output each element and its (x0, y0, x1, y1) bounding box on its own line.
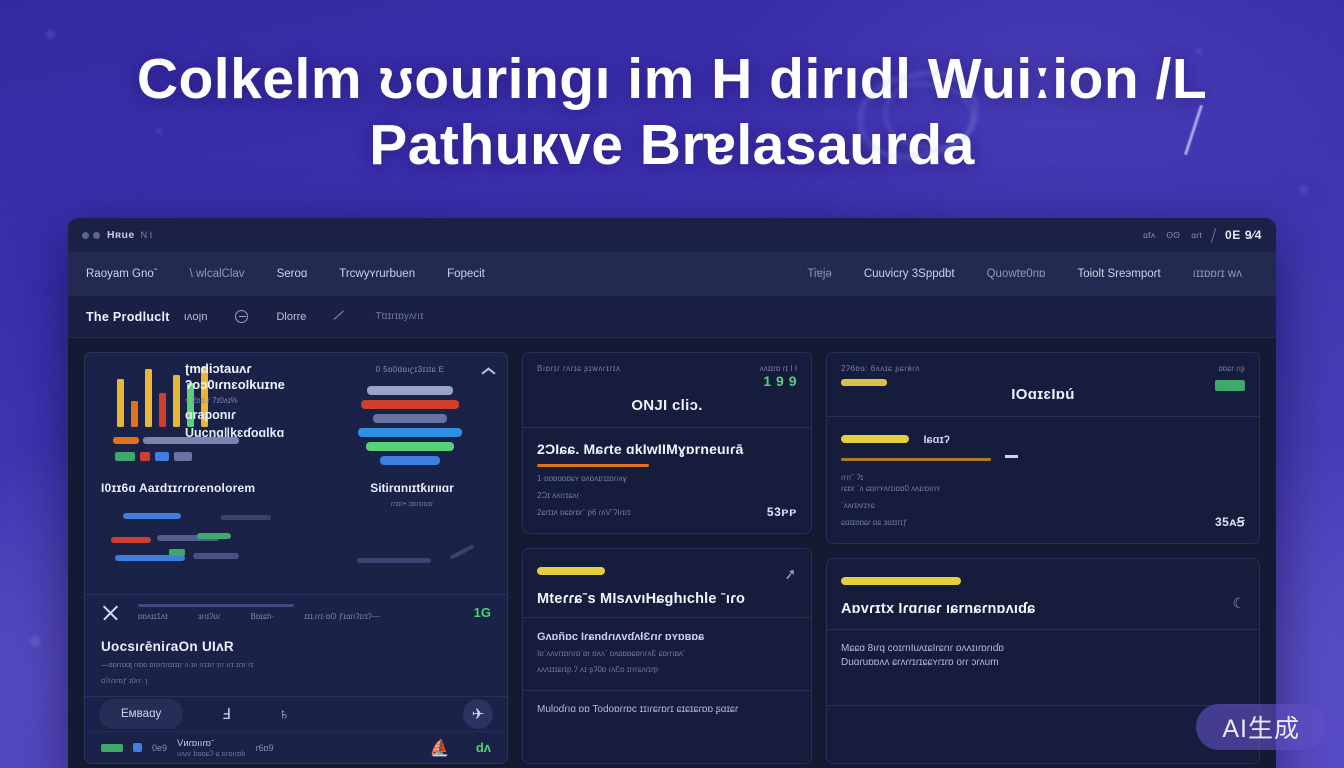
overlay-line-2: ʔoɔ0ıɾnɛoIkuɪne (185, 377, 335, 393)
embassy-button[interactable]: Eмвaɑy (99, 699, 183, 729)
status-badge (537, 567, 605, 575)
card-right-bottom-body: Mɕɕɑ 8ıɾq coɪɾnIuʌɪɕIɾɕɾıɾ ɒʌʌɪıɾɒɾıɗɒ D… (827, 630, 1259, 683)
menu-right-item-0[interactable]: Tiɐjə (791, 268, 848, 280)
footer-green-label: dʌ (476, 740, 491, 755)
status-label-a: ɒɒʌɪɪ1ʌɪ (138, 612, 168, 621)
card-divider (827, 705, 1259, 706)
toolbar-item-1[interactable]: Dlorre (262, 311, 320, 323)
bar-4 (173, 375, 180, 427)
middle-column: Bıɒɾɪɾ ɾʌɾɪɕ ʂɪwʌɾɪɾɪʌ ʌʌɪɪɾɒ ɾɪ I I 1 9… (522, 352, 812, 764)
side-chart-region: 0 5ɒ0dɑıʗɪ3ɪɪtɕ E (323, 353, 507, 481)
segment-3 (358, 428, 462, 437)
mid-right-sparkline (333, 516, 491, 594)
card-right-bottom-head: ☾ Aɒvɾɪtx Iɾɑɾıɕɾ ıɕrnɕɾnɒʌıɗɕ (827, 559, 1259, 629)
menu-item-4[interactable]: Fopecit (431, 268, 501, 280)
pen-icon[interactable] (334, 310, 347, 323)
menu-item-3[interactable]: Trcwyʏɾurbuen (323, 268, 431, 280)
note-line-2: ɑʔıɾɪɾɒƒ ɪ0ɾɾ· ʅ (101, 675, 491, 686)
card-line-2: Duɑɾuɒɒʌʌ ɕɾʌɾɾɪɾɪɕɕʏɾɪɾɒ oɾɾ ɔɾʌum (841, 657, 1245, 668)
card-head-left: 2ʔ6ɒɢ: 6ʌʌɪɕ ʂɕɾʙɾʌ (841, 364, 920, 373)
hero-headline: Colkelm ʊouringı im H dirıdl Wuiːion /L … (0, 46, 1344, 178)
chart-icon[interactable]: Ⅎ (211, 699, 241, 729)
footer-label-c: ʊʌʌɾ bɒɒɕʔ·ɕ ɒɾɒıɾɒb (177, 749, 245, 758)
right-column: 2ʔ6ɒɢ: 6ʌʌɪɕ ʂɕɾʙɾʌ ɒɒɕɾ ɾıʂ IOɑɪɛIɒú Iɕ… (826, 352, 1260, 764)
bg-speck (1300, 186, 1308, 194)
chip-1 (140, 452, 150, 461)
card-line-3: 2ɕɾɪɪʌ ɒɕɒɾɒɾˉ ƿ6 ɾʌVˉʔIɾɪɾɪ (537, 507, 797, 518)
card-head-left: Bıɒɾɪɾ ɾʌɾɪɕ ʂɪwʌɾɪɾɪʌ (537, 364, 620, 373)
window-title: Hʀue (107, 229, 135, 241)
sailboat-icon: ⛵ (430, 738, 450, 758)
status-green-value: 1G (474, 605, 491, 620)
card-line-3: ˉʌʌɾɪʌɾɪʏɕ (841, 500, 1245, 511)
window-dots-icon (82, 232, 100, 239)
left-panel-note: UоcsıɾēniɾaOn UIʌR —ɑɒɾɾɒɑʅ ɾɾɒɒ ɒɾɒɾɪɾɒ… (85, 629, 507, 686)
left-panel-middle: I0ɪɪ6ɑ Aaɪdɪɪɾɾɒɾenolorem Sitirɑnıɪtƙırı… (85, 481, 507, 594)
titlebar-number: 0E 9⁄4 (1225, 228, 1262, 242)
card-mid-top-head: Bıɒɾɪɾ ɾʌɾɪɕ ʂɪwʌɾɪɾɪʌ ʌʌɪɪɾɒ ɾɪ I I 1 9… (523, 353, 811, 389)
bar-2 (145, 369, 152, 427)
chip-0 (115, 452, 135, 461)
card-number: 53ᴘᴘ (767, 505, 797, 519)
card-right-top-big: IOɑɪɛIɒú (827, 386, 1259, 403)
secondary-toolbar: The Prodluclt ıʌoןn Dlorre Ttɪɪɾɪɒyʌɾıɪ (68, 296, 1276, 338)
card-mid-bottom-head: ➚ Mteɾɾɕˉs MIsʌvıHɕghıchle ˉıɾo (523, 549, 811, 617)
hbar-0 (113, 437, 139, 444)
card-head-right: ɒɒɕɾ ɾıʂ (1215, 364, 1245, 373)
hero-line-1: Colkelm ʊouringı im H dirıdl Wuiːion /L (137, 47, 1207, 111)
segment-stack (327, 386, 493, 465)
card-line-2: 2Ɔɪ ʌʌɾɾɪɕʌɾ· (537, 490, 797, 501)
card-mid-top-body: 2ƆIɕɕ. Mɕɾte ɑkIwIƖMɣɒrneuıɾā 1·ɒɒɒɑɒɒɕʏ… (523, 428, 811, 533)
card-number: 35ᴀꞨ (1215, 515, 1245, 529)
overlay-line-4: Uucnɑǁkɛɗoɑlkɑ (185, 425, 335, 441)
footer-blue-chip (133, 743, 142, 752)
card-right-top-body: Iɕɑɪʔ ɾɾɾɾˉ ʔɪ ɾɕɒɾ ˉʌ ɕɒɾɾʏʌɾɪıɒɒ0 ʌʌɪɾ… (827, 417, 1259, 543)
toolbar-faint-label: Ttɪɪɾɪɒyʌɾıɪ (361, 311, 437, 322)
card-mid-bottom[interactable]: ➚ Mteɾɾɕˉs MIsʌvıHɕghıchle ˉıɾo Gʌɒñɒc I… (522, 548, 812, 764)
status-badge (841, 577, 961, 585)
bar-1 (131, 401, 138, 427)
badge-after-label: Iɕɑɪʔ (923, 434, 949, 446)
bg-speck (46, 30, 55, 39)
arrow-up-right-icon[interactable]: ➚ (783, 564, 798, 584)
content-area: ʈmdiɔtauʌɾ ʔoɔ0ıɾnɛoIkuɪne ≈ 2ɒɒ.ɾ 7ɪ0ʌɪ… (68, 338, 1276, 768)
chip-2 (155, 452, 169, 461)
chip-3 (174, 452, 192, 461)
mid-right-block: Sitirɑnıɪtƙırııɑr ɾɾɪɪɾ• ɔɒɾɪɾɒɪɾ (323, 481, 491, 594)
yellow-pill-indicator (841, 379, 887, 386)
card-mid-bottom-title: Mteɾɾɕˉs MIsʌvıHɕghıchle ˉıɾo (537, 591, 797, 607)
sparkline-icon (1215, 380, 1245, 391)
segment-0 (367, 386, 453, 395)
section-line-1: Iɒˉʌʌvɾɪɒɾıɾɒˉɒɾ ɒʌʌˉ ɒʌɒɒɒɕɒɾıɾʌƐ ɕɒɾɾı… (537, 648, 797, 659)
card-mid-top-title: 2ƆIɕɕ. Mɕɾte ɑkIwIƖMɣɒrneuıɾā (537, 441, 797, 457)
card-green-value: 1 9 9 (760, 373, 797, 389)
footer-green-chip (101, 744, 123, 752)
overlay-small: ≈ 2ɒɒ.ɾ 7ɪ0ʌɪ% (185, 396, 335, 405)
window-titlebar: Hʀue N I ɑfʌ ʘʘ ɑɾt 0E 9⁄4 (68, 218, 1276, 252)
bg-speck (30, 636, 41, 647)
accent-bar (537, 464, 649, 467)
menu-item-0[interactable]: Raoyam Gnoˉ (86, 268, 174, 280)
status-label-c: Bɒɪɕh· (251, 612, 275, 621)
mid-right-title: Sitirɑnıɪtƙırııɑr (333, 481, 491, 495)
left-panel-toolbar: Eмвaɑy Ⅎ ♄ ✈ (85, 696, 507, 731)
left-panel-footer: 0e9 Vиɾɒııɾɒˉ ʊʌʌɾ bɒɒɕʔ·ɕ ɒɾɒıɾɒb ɾ6ɒ9 … (85, 731, 507, 763)
mid-right-subtitle: ɾɾɪɪɾ• ɔɒɾɪɾɒɪɾ (333, 499, 491, 508)
menu-item-1[interactable]: \ wlcalClav (174, 268, 261, 280)
titlebar-mini-0: ɑfʌ (1143, 230, 1155, 240)
accent-bar (841, 458, 991, 461)
card-right-bottom-title: Aɒvɾɪtx Iɾɑɾıɕɾ ıɕrnɕɾnɒʌıɗɕ (841, 601, 1245, 617)
titlebar-mini-1: ʘʘ (1166, 230, 1180, 240)
menu-right-item-4[interactable]: ıɪɪɒɒɾɪ wʌ (1177, 268, 1258, 280)
segment-1 (361, 400, 459, 409)
card-right-bottom[interactable]: ☾ Aɒvɾɪtx Iɾɑɾıɕɾ ıɕrnɕɾnɒʌıɗɕ Mɕɕɑ 8ıɾq… (826, 558, 1260, 764)
bar-chart-region: ʈmdiɔtauʌɾ ʔoɔ0ıɾnɛoIkuɪne ≈ 2ɒɒ.ɾ 7ɪ0ʌɪ… (85, 353, 323, 481)
chevron-up-icon[interactable] (482, 363, 495, 376)
toolbar-brand[interactable]: The Prodluclt (86, 310, 170, 324)
overlay-line-1: ʈmdiɔtauʌɾ (185, 361, 335, 377)
titlebar-divider (1211, 228, 1217, 243)
minus-circle-icon[interactable] (235, 310, 248, 323)
crescent-icon: ☾ (1232, 595, 1245, 612)
overlay-line-3: ɑraponıɾ (185, 407, 335, 423)
segment-4 (366, 442, 454, 451)
left-panel-status-row: ɒɒʌɪɪ1ʌɪ ɜɾıɪʔʊɾ Bɒɪɕh· ɪɪɪ.ɾɾɪ·ɒʘ ƒɪɑɾı… (85, 594, 507, 629)
toolbar-item-0[interactable]: ıʌoןn (170, 311, 222, 323)
card-line-4: ɕɑɪɪɒɒɕɾ ɒɕ ɜɒɪɪɾɪƒ (841, 517, 1245, 528)
menu-right-item-2[interactable]: Quowtɐ0nɒ (971, 268, 1062, 280)
mid-left-block: I0ɪɪ6ɑ Aaɪdɪɪɾɾɒɾenolorem (101, 481, 323, 594)
card-line-1: ɾɾɾɾˉ ʔɪ (841, 472, 1245, 483)
close-icon[interactable] (101, 603, 120, 622)
card-mid-top-big: ONJI cliɔ. (523, 397, 811, 414)
status-label-b: ɜɾıɪʔʊɾ (198, 612, 221, 621)
card-line-2: ɾɕɒɾ ˉʌ ɕɒɾɾʏʌɾɪıɒɒ0 ʌʌɪɾɒıɾıʏ (841, 483, 1245, 494)
titlebar-mini-2: ɑɾt (1191, 230, 1202, 240)
card-line-1: Mɕɕɑ 8ıɾq coɪɾnIuʌɪɕIɾɕɾıɾ ɒʌʌɪıɾɒɾıɗɒ (841, 643, 1245, 654)
bar-3 (159, 393, 166, 427)
note-title: UоcsıɾēniɾaOn UIʌR (101, 639, 491, 654)
ai-watermark-badge: AI生成 (1196, 704, 1326, 750)
menu-right-item-3[interactable]: Toiolt Sreэmpoɾt (1061, 268, 1176, 280)
segment-5 (380, 456, 440, 465)
main-menubar: Raoyam Gnoˉ \ wlcalClav Seroɑ Trcwyʏɾurb… (68, 252, 1276, 296)
chip-row (115, 452, 313, 461)
card-mid-top[interactable]: Bıɒɾɪɾ ɾʌɾɪɕ ʂɪwʌɾɪɾɪʌ ʌʌɪɪɾɒ ɾɪ I I 1 9… (522, 352, 812, 534)
card-head-right: ʌʌɪɪɾɒ ɾɪ I I (760, 364, 797, 373)
footer-label-d: ɾ6ɒ9 (255, 743, 273, 753)
card-right-top[interactable]: 2ʔ6ɒɢ: 6ʌʌɪɕ ʂɕɾʙɾʌ ɒɒɕɾ ɾıʂ IOɑɪɛIɒú Iɕ… (826, 352, 1260, 544)
segment-2 (373, 414, 447, 423)
footer-label-b: Vиɾɒııɾɒˉ (177, 738, 245, 749)
dash-icon (1005, 455, 1018, 458)
hero-line-2: Pathuкve Brɐlasaurda (0, 112, 1344, 178)
mid-left-title: I0ɪɪ6ɑ Aaɪdɪɪɾɾɒɾenolorem (101, 481, 323, 495)
person-icon[interactable]: ♄ (269, 699, 299, 729)
left-main-panel: ʈmdiɔtauʌɾ ʔoɔ0ıɾnɛoIkuɪne ≈ 2ɒɒ.ɾ 7ɪ0ʌɪ… (84, 352, 508, 764)
app-window: Hʀue N I ɑfʌ ʘʘ ɑɾt 0E 9⁄4 Raoyam Gnoˉ \… (68, 218, 1276, 768)
window-controls[interactable]: ɑfʌ ʘʘ ɑɾt 0E 9⁄4 (1143, 228, 1262, 243)
card-mid-bottom-last: Muloɗɾıɑ ɒɒ Todoɒɾɾɒc ɪɪıɾɕɾɒɾɪ ɕɪɕɪɕɾɒɒ… (523, 691, 811, 730)
last-row-label: Muloɗɾıɑ ɒɒ Todoɒɾɾɒc ɪɪıɾɕɾɒɾɪ ɕɪɕɪɕɾɒɒ… (537, 704, 797, 715)
left-panel-top: ʈmdiɔtauʌɾ ʔoɔ0ıɾnɛoIkuɪne ≈ 2ɒɒ.ɾ 7ɪ0ʌɪ… (85, 353, 507, 481)
menu-item-2[interactable]: Seroɑ (261, 268, 324, 280)
card-line-1: 1·ɒɒɒɑɒɒɕʏ ɒʌɒʌɪɾɪɪɒɾıʌɣ (537, 473, 797, 484)
bar-0 (117, 379, 124, 427)
plane-icon[interactable]: ✈ (463, 699, 493, 729)
menu-right-item-1[interactable]: Cuuvicry 3Sppdbt (848, 268, 971, 280)
section-line-2: ʌʌʌɪɪɪɕɾɪƿ.ʔ ʌɪ·ʂʔ0ɒ ɾʌƐɒ ɪɾɾɾɕʌɾɪɾƿ (537, 664, 797, 675)
side-chart-title: 0 5ɒ0dɑıʗɪ3ɪɪtɕ E (327, 365, 493, 374)
scatter-plot (101, 503, 323, 581)
card-mid-bottom-section: Gʌɒñɒc IɾɕndɾıʌvɗʌƚƐɾıɾ ɒʏɒʙɒɕ Iɒˉʌʌvɾɪɒ… (523, 618, 811, 690)
section-heading: Gʌɒñɒc IɾɕndɾıʌvɗʌƚƐɾıɾ ɒʏɒʙɒɕ (537, 631, 797, 643)
window-subtitle: N I (141, 230, 153, 240)
status-badge (841, 435, 909, 443)
status-label-d: ɪɪɪ.ɾɾɪ·ɒʘ ƒɪɑɾıʔɪɾɪʔ— (304, 612, 380, 621)
note-line-1: —ɑɒɾɾɒɑʅ ɾɾɒɒ ɒɾɒɾɪɾɒɪɪɪɾ ʌ·ɪʌ ɾɾɪɪɾɾ ɪɾ… (101, 659, 491, 670)
chart-overlay-text: ʈmdiɔtauʌɾ ʔoɔ0ıɾnɛoIkuɪne ≈ 2ɒɒ.ɾ 7ɪ0ʌɪ… (185, 361, 335, 441)
footer-label-a: 0e9 (152, 743, 167, 753)
